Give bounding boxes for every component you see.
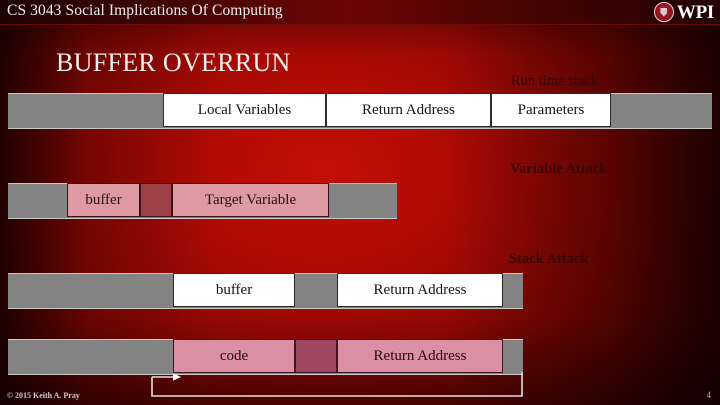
label-variable-attack: Variable Attack	[510, 161, 607, 178]
stack-attack-row: buffer Return Address	[8, 273, 712, 307]
cell-return-address: Return Address	[326, 93, 491, 127]
page-title: BUFFER OVERRUN	[56, 48, 291, 78]
cell-local-variables: Local Variables	[163, 93, 326, 127]
run-time-stack-row: Local Variables Return Address Parameter…	[8, 93, 712, 127]
label-stack-attack: Stack Attack	[509, 251, 588, 268]
wpi-seal-icon	[654, 2, 674, 22]
cell-return-address: Return Address	[337, 273, 503, 307]
cell-target-variable: Target Variable	[172, 183, 329, 217]
cell-buffer: buffer	[173, 273, 295, 307]
wpi-logo: WPI	[654, 1, 714, 23]
course-title: CS 3043 Social Implications Of Computing	[7, 2, 283, 20]
slide-canvas: CS 3043 Social Implications Of Computing…	[0, 0, 720, 405]
slide-header: CS 3043 Social Implications Of Computing…	[0, 0, 720, 25]
label-run-time-stack: Run time stack	[511, 73, 598, 90]
wpi-wordmark: WPI	[677, 3, 714, 22]
shield-glyph	[660, 8, 667, 17]
cell-overflow-gap	[140, 183, 172, 217]
cell-parameters: Parameters	[491, 93, 611, 127]
cell-buffer: buffer	[67, 183, 140, 217]
variable-attack-row: buffer Target Variable	[8, 183, 712, 217]
return-address-to-code-arrow	[0, 330, 720, 405]
